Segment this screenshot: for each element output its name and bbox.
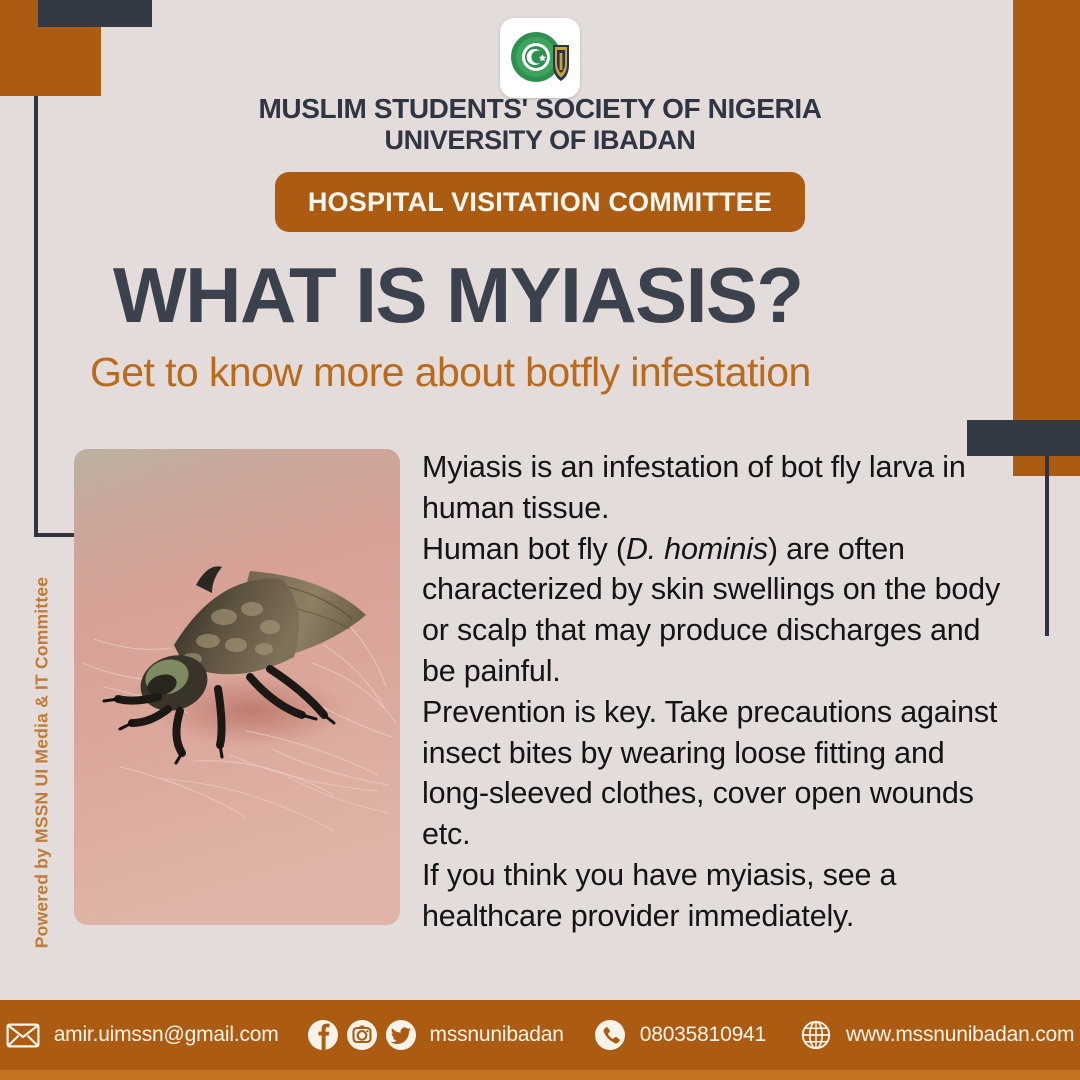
footer-phone-label: 08035810941 (640, 1023, 766, 1047)
decor-left-horizontal-stub (34, 533, 79, 537)
organization-name-line-2: UNIVERSITY OF IBADAN (0, 125, 1080, 157)
decor-top-left-dark-block (38, 0, 152, 27)
credit-text: Powered by MSSN UI Media & IT Committee (32, 538, 53, 988)
body-paragraph-3: Prevention is key. Take precautions agai… (422, 692, 1002, 855)
bot-fly-photo (74, 449, 400, 925)
page-title: WHAT IS MYIASIS? (113, 257, 993, 333)
contact-footer: amir.uimssn@gmail.com (0, 1000, 1080, 1070)
instagram-icon[interactable] (346, 1019, 378, 1051)
footer-phone-item[interactable]: 08035810941 (594, 1019, 766, 1051)
body-paragraph-1: Myiasis is an infestation of bot fly lar… (422, 447, 1002, 529)
phone-icon (594, 1019, 626, 1051)
social-icon-group (307, 1019, 417, 1051)
decor-right-vertical-line (1045, 456, 1049, 636)
mssn-ui-logo-icon (507, 25, 573, 91)
footer-social-item[interactable]: mssnunibadan (307, 1019, 564, 1051)
globe-icon (800, 1019, 832, 1051)
bot-fly-photo-illustration (74, 449, 400, 925)
footer-website-item[interactable]: www.mssnunibadan.com (800, 1019, 1074, 1051)
decor-left-vertical-line (34, 96, 38, 537)
species-name: D. hominis (626, 532, 768, 566)
organization-name-line-1: MUSLIM STUDENTS' SOCIETY OF NIGERIA (0, 92, 1080, 125)
organization-logo (500, 18, 580, 98)
footer-email-item[interactable]: amir.uimssn@gmail.com (6, 1023, 279, 1048)
organization-name: MUSLIM STUDENTS' SOCIETY OF NIGERIA UNIV… (0, 92, 1080, 157)
footer-social-handle-label: mssnunibadan (430, 1023, 564, 1047)
decor-right-orange-column (1013, 0, 1080, 476)
footer-underline-strip (0, 1070, 1080, 1080)
footer-website-label: www.mssnunibadan.com (846, 1023, 1074, 1047)
page-subtitle: Get to know more about botfly infestatio… (90, 350, 1020, 395)
body-paragraph-4: If you think you have myiasis, see a hea… (422, 855, 1002, 937)
body-paragraph-2-before: Human bot fly ( (422, 532, 626, 566)
committee-banner-label: HOSPITAL VISITATION COMMITTEE (308, 187, 772, 218)
twitter-icon[interactable] (385, 1019, 417, 1051)
article-body: Myiasis is an infestation of bot fly lar… (422, 447, 1002, 937)
facebook-icon[interactable] (307, 1019, 339, 1051)
committee-banner: HOSPITAL VISITATION COMMITTEE (275, 172, 805, 232)
footer-email-label: amir.uimssn@gmail.com (54, 1023, 279, 1047)
envelope-icon (6, 1023, 40, 1048)
body-paragraph-2: Human bot fly (D. hominis) are often cha… (422, 529, 1002, 692)
